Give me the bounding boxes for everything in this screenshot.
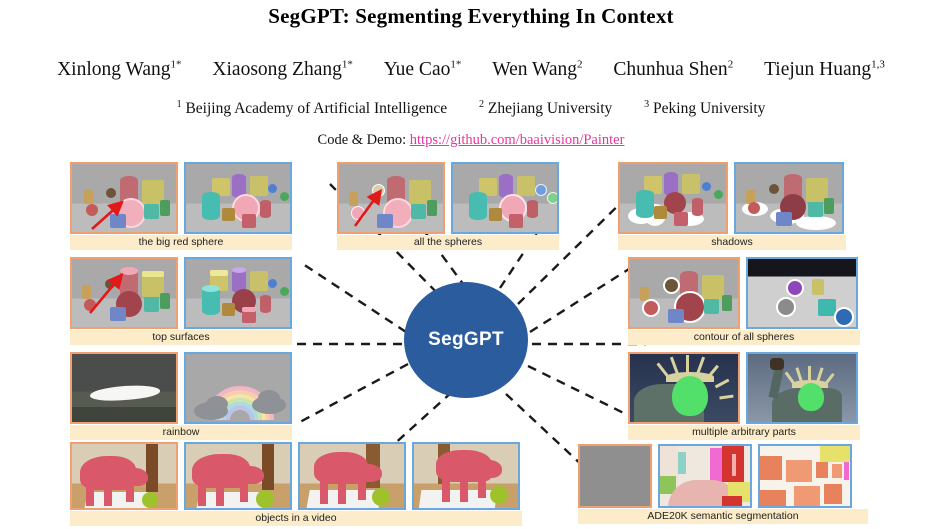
cloud-shape (258, 390, 280, 406)
panel-caption: objects in a video (70, 511, 522, 526)
affiliation-mark: 3 (644, 99, 649, 110)
seg-painting (824, 484, 842, 504)
object-sphere (268, 279, 277, 288)
clevr-scene (72, 259, 176, 327)
author-entry: Wen Wang2 (492, 59, 582, 80)
clevr-scene (736, 164, 842, 232)
object-cube (144, 204, 159, 219)
output-image[interactable] (746, 352, 858, 424)
cat-mask (320, 480, 328, 504)
clevr-scene (748, 259, 856, 327)
panel-caption: top surfaces (70, 330, 292, 345)
seg-painting (816, 462, 828, 478)
shadow-mask (796, 216, 836, 230)
seg-painting (832, 464, 842, 478)
panel-caption: rainbow (70, 425, 292, 440)
author-affil-mark: 2 (577, 58, 583, 70)
panel-images (70, 442, 522, 510)
seg-object (722, 496, 742, 508)
output-image[interactable] (184, 162, 292, 234)
panel-images (70, 352, 292, 424)
seg-door-panel (732, 454, 736, 476)
object-sphere-contour (642, 299, 660, 317)
object-cube (818, 299, 836, 316)
input-image[interactable] (337, 162, 445, 234)
input-image[interactable] (70, 257, 178, 329)
output-image[interactable] (734, 162, 844, 234)
top-surface-mask (202, 285, 220, 292)
input-image[interactable] (628, 257, 740, 329)
input-image[interactable] (70, 442, 178, 510)
author-entry: Tiejun Huang1,3 (764, 59, 885, 80)
object-cube (704, 299, 719, 314)
cat-mask (216, 484, 224, 506)
affiliation-name: Peking University (653, 100, 765, 117)
author-entry: Xinlong Wang1* (57, 59, 181, 80)
object-cube (411, 204, 426, 219)
cat-mask (358, 478, 366, 500)
object-cylinder (202, 192, 220, 220)
affiliation-entry: 3 Peking University (644, 100, 765, 117)
object-cube (509, 214, 523, 228)
object-cube (808, 202, 823, 217)
object-cube (489, 208, 502, 221)
object-sphere-contour (663, 277, 680, 294)
output-image[interactable] (658, 444, 752, 508)
author-name: Tiejun Huang (764, 59, 871, 80)
panel-images (618, 162, 846, 234)
cat-mask (198, 484, 206, 506)
cat-mask (240, 480, 248, 502)
object-cube (682, 174, 700, 194)
panel-rainbow[interactable]: rainbow (70, 352, 292, 440)
output-image[interactable] (412, 442, 520, 510)
top-surface-mask (242, 307, 256, 312)
clevr-scene (339, 164, 443, 232)
object-cube (702, 275, 724, 299)
object-sphere (702, 182, 711, 191)
output-image[interactable] (184, 257, 292, 329)
seg-painting (786, 460, 812, 482)
cat-mask (460, 478, 468, 502)
panel-images (628, 257, 860, 329)
panel-objects-in-a-video[interactable]: objects in a video (70, 442, 522, 526)
seg-painting (760, 456, 782, 480)
object-cylinder (260, 200, 271, 218)
ball-object (372, 488, 390, 506)
output-image[interactable] (758, 444, 852, 508)
object-cylinder (469, 192, 487, 220)
panel-images (578, 444, 868, 508)
panel-top-surfaces[interactable]: top surfaces (70, 257, 292, 345)
object-sphere (748, 202, 760, 214)
object-cube (242, 214, 256, 228)
panel-caption: contour of all spheres (628, 330, 860, 345)
author-affil-mark: 1* (450, 58, 461, 70)
panel-shadows[interactable]: shadows (618, 162, 846, 250)
clevr-scene (72, 164, 176, 232)
rainbow-render (186, 354, 290, 422)
face-mask (672, 376, 708, 416)
author-name: Yue Cao (384, 59, 451, 80)
author-name: Xiaosong Zhang (212, 59, 341, 80)
cat-mask (104, 484, 112, 506)
object-sphere (535, 184, 547, 196)
cat-mask (442, 478, 450, 502)
output-image[interactable] (746, 257, 858, 329)
top-surface-mask (142, 271, 164, 277)
top-surface-mask (210, 270, 228, 276)
object-sphere (280, 192, 289, 201)
cloud-shape (206, 396, 228, 412)
seg-painting (794, 486, 820, 508)
author-name: Chunhua Shen (613, 59, 727, 80)
top-surface-mask (232, 267, 246, 273)
cat-mask (86, 484, 94, 506)
object-cylinder (722, 295, 732, 311)
author-affil-mark: 2 (728, 58, 734, 70)
affiliation-name: Beijing Academy of Artificial Intelligen… (185, 100, 447, 117)
author-name: Xinlong Wang (57, 59, 170, 80)
clevr-scene (620, 164, 726, 232)
object-cylinder (260, 295, 271, 313)
object-sphere (714, 190, 723, 199)
pointer-arrow-icon (353, 188, 395, 230)
object-cylinder (812, 279, 824, 295)
object-cube (250, 176, 268, 196)
object-sphere (106, 188, 116, 198)
author-name: Wen Wang (492, 59, 577, 80)
seg-plant (678, 452, 686, 474)
panel-images (70, 257, 292, 329)
object-cylinder (527, 200, 538, 218)
object-cylinder (636, 190, 654, 218)
panel-caption: all the spheres (337, 235, 559, 250)
panel-ade20k-semantic-segmentation[interactable]: ADE20K semantic segmentation (578, 444, 868, 524)
affiliation-entry: 1 Beijing Academy of Artificial Intellig… (177, 100, 448, 117)
author-affil-mark: 1* (342, 58, 353, 70)
panel-big-red-sphere[interactable]: the big red sphere (70, 162, 292, 250)
input-image[interactable] (618, 162, 728, 234)
ball-object (256, 490, 274, 508)
output-image[interactable] (184, 442, 292, 510)
object-cube (222, 208, 235, 221)
code-demo-label: Code & Demo: (318, 132, 407, 148)
cat-mask (126, 482, 134, 502)
object-sphere (664, 192, 686, 214)
seggpt-hub: SegGPT (404, 282, 528, 398)
torch-shape (770, 358, 784, 370)
ball-object (142, 492, 158, 508)
seg-painting (760, 490, 786, 508)
cat-mask (478, 476, 486, 498)
input-image[interactable] (70, 352, 178, 424)
author-affil-mark: 1,3 (871, 58, 885, 70)
author-affil-mark: 1* (171, 58, 182, 70)
output-image[interactable] (184, 352, 292, 424)
clevr-scene (630, 259, 738, 327)
panel-caption: ADE20K semantic segmentation (578, 509, 868, 524)
cat-mask (338, 480, 346, 504)
poster-page: SegGPT: Segmenting Everything In Context… (0, 0, 942, 529)
seg-curtain (844, 462, 849, 480)
clevr-scene (186, 164, 290, 232)
panel-caption: shadows (618, 235, 846, 250)
hub-label: SegGPT (428, 329, 504, 351)
face-mask (798, 383, 824, 411)
page-title: SegGPT: Segmenting Everything In Context (0, 4, 942, 29)
panel-images (70, 162, 292, 234)
affiliation-list: 1 Beijing Academy of Artificial Intellig… (0, 99, 942, 118)
panel-images (337, 162, 559, 234)
seg-curtain (710, 448, 722, 482)
object-sphere-contour (776, 297, 796, 317)
door-frame (262, 444, 274, 490)
output-image[interactable] (451, 162, 559, 234)
object-sphere (280, 287, 289, 296)
panel-contour-of-all-spheres[interactable]: contour of all spheres (628, 257, 860, 345)
object-sphere (547, 192, 559, 204)
door-frame (146, 444, 158, 492)
object-sphere (769, 184, 779, 194)
object-cylinder (160, 200, 170, 216)
clevr-scene (453, 164, 557, 232)
object-cylinder (692, 198, 703, 216)
input-image[interactable] (628, 352, 740, 424)
affiliation-entry: 2 Zhejiang University (479, 100, 612, 117)
panel-all-the-spheres[interactable]: all the spheres (337, 162, 559, 250)
panel-multiple-arbitrary-parts[interactable]: multiple arbitrary parts (628, 352, 860, 440)
ball-object (490, 486, 508, 504)
clevr-scene (186, 259, 290, 327)
panel-caption: the big red sphere (70, 235, 292, 250)
object-sphere-contour (834, 307, 854, 327)
affiliation-name: Zhejiang University (488, 100, 612, 117)
object-cube (250, 271, 268, 291)
panel-images (628, 352, 860, 424)
input-image[interactable] (578, 444, 652, 508)
pointer-arrow-icon (90, 198, 130, 232)
object-cylinder (160, 293, 170, 309)
affiliation-mark: 2 (479, 99, 484, 110)
object-cube (776, 212, 792, 226)
object-cube (674, 212, 688, 226)
object-cube (654, 206, 667, 219)
object-cylinder (824, 198, 834, 214)
input-image[interactable] (70, 162, 178, 234)
object-cube (222, 303, 235, 316)
code-demo-line: Code & Demo: https://github.com/baaivisi… (0, 132, 942, 149)
code-demo-link[interactable]: https://github.com/baaivision/Painter (410, 132, 625, 148)
pointer-arrow-icon (88, 273, 134, 317)
object-cube (668, 309, 684, 323)
author-entry: Yue Cao1* (384, 59, 462, 80)
affiliation-mark: 1 (177, 99, 182, 110)
author-list: Xinlong Wang1* Xiaosong Zhang1* Yue Cao1… (0, 58, 942, 81)
object-cube (144, 297, 159, 312)
noise-image (580, 446, 650, 506)
author-entry: Xiaosong Zhang1* (212, 59, 352, 80)
teaser-figure: SegGPT (0, 152, 942, 529)
object-cube (517, 176, 535, 196)
output-image[interactable] (298, 442, 406, 510)
object-cylinder (427, 200, 437, 216)
object-sphere-contour (786, 279, 804, 297)
object-sphere (268, 184, 277, 193)
seg-ceiling (820, 446, 852, 462)
author-entry: Chunhua Shen2 (613, 59, 733, 80)
panel-caption: multiple arbitrary parts (628, 425, 860, 440)
